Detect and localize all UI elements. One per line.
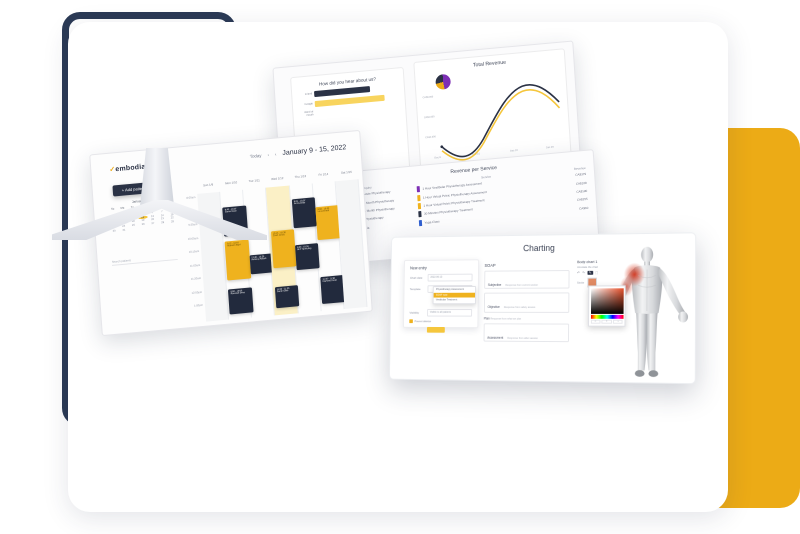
- calendar-date-range: January 9 - 15, 2022: [282, 144, 346, 157]
- calendar-event-title: Carol Jones: [273, 234, 292, 238]
- objective-placeholder: Response from safety assess: [504, 306, 535, 309]
- soap-section: SOAP Subjective Response from current se…: [484, 262, 570, 346]
- template-dropdown-menu[interactable]: Physiotherapy Assessment SOAP note Vesti…: [433, 286, 476, 304]
- picker-field-lin[interactable]: 9: [602, 320, 612, 324]
- time-slot-label: 1:00pm: [185, 304, 204, 319]
- chart-date-label: Chart date: [410, 276, 428, 280]
- service-color-swatch: [417, 195, 420, 201]
- search-patients-input[interactable]: Search patients: [112, 254, 178, 266]
- new-entry-heading: New entry: [410, 265, 478, 270]
- cell-revenue: CA$60: [558, 206, 588, 213]
- pencil-icon[interactable]: ✎: [587, 271, 593, 275]
- calendar-event-title: Sarah Olive: [277, 290, 296, 294]
- calendar-event-title: Anthony Abbott: [252, 258, 271, 262]
- survey-bar-label: Google: [297, 103, 313, 107]
- survey-bar-label: Word of mouth: [297, 111, 313, 118]
- assessment-placeholder: Response from after session: [507, 337, 538, 340]
- chevron-left-icon[interactable]: ‹: [275, 152, 277, 157]
- calendar-event-title: Renewal Drive: [231, 292, 250, 296]
- calendar-day-header: Thu 1/13: [289, 173, 312, 179]
- calendar-day-header: Mon 1/10: [220, 180, 243, 186]
- survey-bar-friend: [314, 86, 370, 97]
- calendar-event[interactable]: 9:00 - 10:00Renewal Drive: [228, 287, 253, 314]
- eraser-icon[interactable]: ⬚: [595, 271, 598, 275]
- service-color-swatch: [418, 211, 421, 217]
- calendar-day-columns[interactable]: 9:45 - 10:07Sierra Moon9:12 - 10:07Malco…: [197, 179, 367, 321]
- calendar-navigation: Today › ‹ January 9 - 15, 2022: [250, 144, 347, 160]
- redo-icon[interactable]: ↷: [582, 271, 585, 275]
- save-button[interactable]: [427, 327, 445, 333]
- calendar-week-grid: Sun 1/9Mon 1/10Tue 1/11Wed 1/12Thu 1/13F…: [196, 169, 367, 321]
- service-color-swatch: [419, 220, 422, 226]
- assessment-field[interactable]: Assessment Response from after session: [484, 323, 570, 342]
- service-color-swatch: [418, 203, 421, 209]
- checkbox-icon[interactable]: [409, 319, 413, 323]
- monitor-screen: Charting New entry Chart date 2022-06-13…: [389, 232, 696, 384]
- template-label: Template: [410, 287, 428, 291]
- survey-bar-label: Friend: [296, 93, 312, 97]
- visibility-label: Visibility: [409, 310, 427, 314]
- calendar-event-title: Malcolm Byrd: [227, 244, 246, 248]
- subjective-placeholder: Response from current section: [505, 284, 538, 287]
- visibility-field[interactable]: Visibility Visible to all patients: [409, 308, 472, 316]
- picker-field-sat[interactable]: s: [613, 320, 623, 324]
- calendar-event-title: Ari Kunstler: [294, 202, 313, 206]
- calendar-event-title: Liv Leonard: [318, 210, 337, 214]
- chart-date-field[interactable]: Chart date 2022-06-13: [410, 274, 473, 282]
- calendar-event[interactable]: 12:40 - 12:30Anthony Abbott: [249, 253, 273, 274]
- plan-field[interactable]: Plan Response from what we plan: [484, 317, 569, 321]
- subjective-field[interactable]: Subjective Response from current section: [484, 270, 569, 289]
- assessment-label: Assessment: [487, 336, 503, 340]
- today-button[interactable]: Today: [250, 153, 262, 159]
- calendar-event-title: Marlowe Dodd: [323, 279, 342, 283]
- picker-field-hex[interactable]: 0: [590, 320, 600, 324]
- prevent-deletion-checkbox-row[interactable]: Prevent deletion: [409, 319, 472, 323]
- menu-item-vestibular-treatment[interactable]: Vestibular Treatment: [434, 298, 475, 303]
- color-picker-hue-slider[interactable]: [590, 315, 623, 318]
- calendar-event[interactable]: 9:00 - 10:50Ali F Sprouling: [295, 243, 320, 270]
- embodia-logo[interactable]: ✓embodia: [109, 162, 146, 173]
- plan-label: Plan: [484, 317, 490, 321]
- mini-calendar-empty: [139, 226, 148, 230]
- color-picker-popover[interactable]: 0 9 s: [588, 285, 626, 326]
- stroke-color-label: Stroke: [577, 281, 584, 284]
- calendar-day-header: Fri 1/14: [312, 171, 335, 177]
- prevent-deletion-label: Prevent deletion: [415, 320, 432, 323]
- chevron-right-icon[interactable]: ›: [267, 152, 269, 157]
- calendar-day-header: Sun 1/9: [196, 182, 219, 188]
- plan-placeholder: Response from what we plan: [490, 318, 521, 321]
- objective-field[interactable]: Objective Response from safety assess: [484, 292, 569, 312]
- mini-calendar-empty: [168, 223, 177, 227]
- color-picker-values: 0 9 s: [590, 320, 623, 324]
- monitor: Charting New entry Chart date 2022-06-13…: [368, 232, 696, 384]
- new-entry-panel: New entry Chart date 2022-06-13 Template…: [403, 259, 479, 328]
- subjective-label: Subjective: [488, 283, 501, 287]
- calendar-day-header: Tue 1/11: [243, 178, 266, 184]
- mini-calendar-empty: [149, 225, 158, 229]
- visibility-select[interactable]: Visible to all patients: [427, 308, 472, 316]
- objective-label: Objective: [488, 305, 500, 309]
- calendar-day-header: Wed 1/12: [266, 176, 289, 182]
- color-picker-gradient[interactable]: [591, 288, 624, 314]
- calendar-event-title: Ali F Sprouling: [297, 248, 316, 252]
- calendar-event[interactable]: 11:00 - 11:30Sarah Olive: [275, 285, 299, 308]
- cell-inquiry: n/a: [365, 221, 419, 230]
- mini-calendar-empty: [129, 227, 138, 231]
- chart-date-input[interactable]: 2022-06-13: [428, 274, 473, 282]
- mini-calendar-day[interactable]: 31: [119, 228, 128, 232]
- calendar-event-title: Sierra Moon: [225, 210, 244, 214]
- mini-calendar-empty: [158, 224, 167, 228]
- calendar-day-header: Sat 1/15: [335, 169, 358, 175]
- undo-icon[interactable]: ↶: [577, 271, 580, 275]
- soap-heading: SOAP: [484, 262, 569, 268]
- service-color-swatch: [417, 186, 420, 192]
